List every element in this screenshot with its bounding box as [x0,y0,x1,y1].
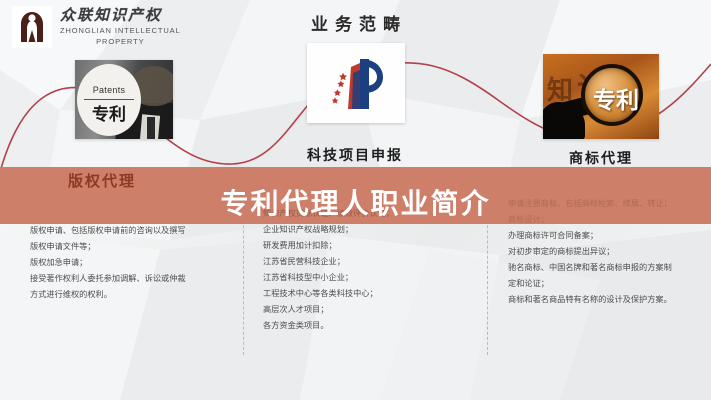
column-3-line-5: 驰名商标、中国名牌和著名商标申报的方案制 [508,260,708,276]
magnifier-lens: 专利 [581,64,643,126]
caption-tech-project: 科技项目申报 [255,145,455,165]
banner-title: 专利代理人职业简介 [0,182,711,222]
column-2-line-5: 江苏省科技型中小企业； [263,270,478,286]
presentation-slide: 众联知识产权 ZHONGLIAN INTELLECTUAL PROPERTY 业… [0,0,711,400]
section-title: 业务范畴 [0,10,711,35]
thumbnail-trademark: 知 识 .com 专利 [543,54,659,139]
column-2-line-4: 江苏省民营科技企业； [263,254,478,270]
patents-label-en: Patents [83,85,135,95]
column-2-line-3: 研发费用加计扣除； [263,238,478,254]
column-3-line-6: 定和论证； [508,276,708,292]
thumbnail-patents: Patents 专利 [75,60,173,139]
logo-english-line-2: PROPERTY [60,37,181,46]
column-1-body: 版权申请、包括版权申请前的咨询以及撰写 版权申请文件等； 版权加急申请； 接受著… [30,223,235,303]
p-logo-icon [307,43,405,123]
column-1-line-1: 版权申请、包括版权申请前的咨询以及撰写 [30,223,235,239]
column-3-line-3: 办理商标许可合同备案； [508,228,708,244]
column-1-line-3: 版权加急申请； [30,255,235,271]
column-2-body: 知识产权贯标认证、绩效评价认证； 企业知识产权战略规划； 研发费用加计扣除； 江… [263,206,478,334]
column-2-line-2: 企业知识产权战略规划； [263,222,478,238]
thumbnail-tech-project [307,43,405,123]
column-3-line-7: 商标和著名商品特有名称的设计及保护方案。 [508,292,708,308]
caption-trademark: 商标代理 [501,148,701,168]
column-1-line-2: 版权申请文件等； [30,239,235,255]
patents-label-cn: 专利 [81,100,137,125]
tie-shape [147,117,155,139]
column-2-line-8: 各方资金类项目。 [263,318,478,334]
column-tech-project: 知识产权贯标认证、绩效评价认证； 企业知识产权战略规划； 研发费用加计扣除； 江… [263,206,478,334]
column-2-line-7: 高层次人才项目； [263,302,478,318]
trademark-label-cn: 专利 [585,81,647,115]
column-1-line-4: 接受著作权利人委托参加调解、诉讼或仲裁 [30,271,235,287]
column-3-line-4: 对初步审定的商标提出异议； [508,244,708,260]
column-1-line-5: 方式进行维权的权利。 [30,287,235,303]
column-2-line-6: 工程技术中心等各类科技中心； [263,286,478,302]
